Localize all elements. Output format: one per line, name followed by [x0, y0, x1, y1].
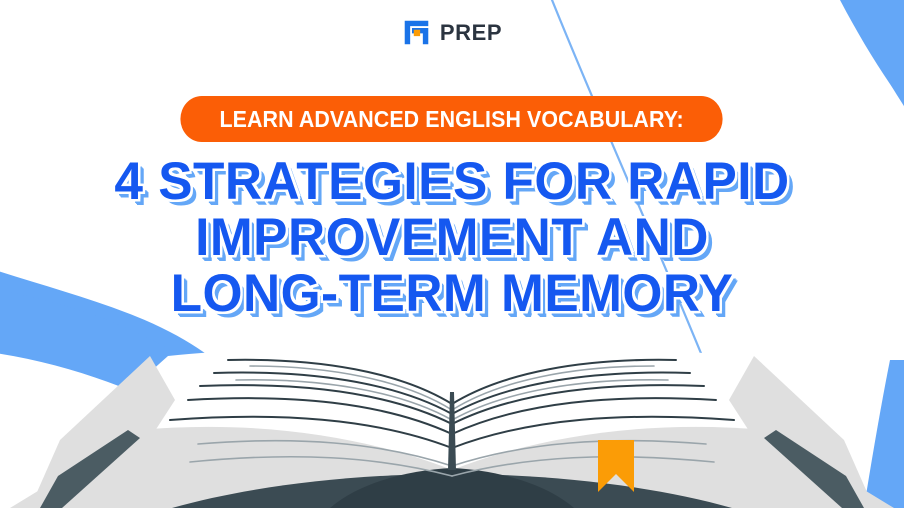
banner-content: PREP LEARN ADVANCED ENGLISH VOCABULARY: …	[0, 0, 904, 508]
page-title: 4 STRATEGIES FOR RAPID IMPROVEMENT AND L…	[0, 154, 904, 322]
brand-wordmark: PREP	[440, 22, 502, 44]
prep-logo-icon	[402, 18, 431, 47]
headline-line-3: LONG-TERM MEMORY	[14, 266, 891, 322]
banner-canvas: PREP LEARN ADVANCED ENGLISH VOCABULARY: …	[0, 0, 904, 508]
headline-line-2: IMPROVEMENT AND	[14, 210, 891, 266]
eyebrow-wrap: LEARN ADVANCED ENGLISH VOCABULARY:	[0, 96, 904, 142]
brand-logo[interactable]: PREP	[0, 18, 904, 47]
eyebrow-pill: LEARN ADVANCED ENGLISH VOCABULARY:	[181, 96, 723, 142]
headline-line-1: 4 STRATEGIES FOR RAPID	[14, 154, 891, 210]
